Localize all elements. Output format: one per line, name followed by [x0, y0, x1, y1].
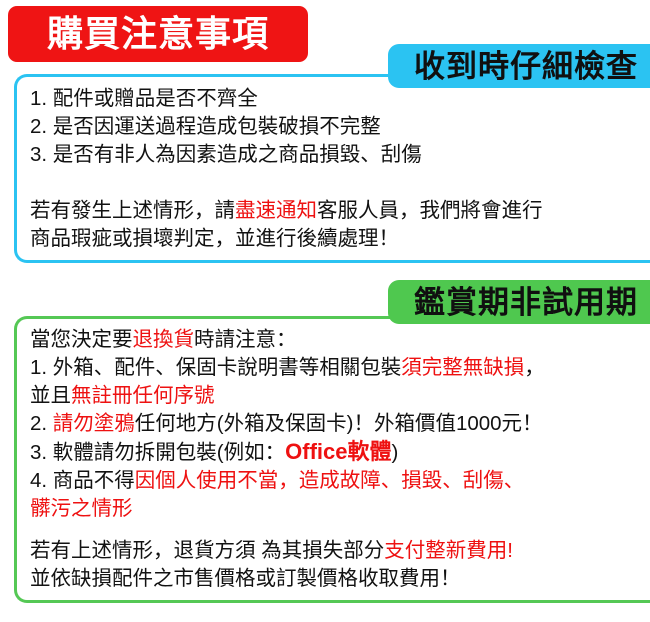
badge-inspect-on-receipt: 收到時仔細檢查: [388, 44, 650, 88]
item4-highlight-misuse: 因個人使用不當，造成故障、損毀、刮傷、: [135, 469, 525, 492]
item1-part-2: ，: [524, 356, 545, 379]
return-policy-note: 若有上述情形，退貨方須 為其損失部分支付整新費用! 並依缺損配件之市售價格或訂製…: [30, 537, 645, 593]
list-item-1-line-1: 1. 外箱、配件、保固卡說明書等相關包裝須完整無缺損，: [30, 354, 645, 382]
list-item: 3. 是否有非人為因素造成之商品損毀、刮傷: [30, 141, 630, 169]
intro-part-1: 當您決定要: [30, 328, 133, 351]
intro-part-2: 時請注意：: [194, 328, 297, 351]
list-item-2: 2. 請勿塗鴉任何地方(外箱及保固卡)！外箱價值1000元！: [30, 410, 645, 438]
list-item: 2. 是否因運送過程造成包裝破損不完整: [30, 113, 630, 141]
list-item-1-line-2: 並且無註冊任何序號: [30, 382, 645, 410]
badge-purchase-notice: 購買注意事項: [8, 6, 308, 62]
item3-highlight-office-software: Office軟體: [285, 439, 391, 464]
item1-line2-prefix: 並且: [30, 384, 71, 407]
list-item-3: 3. 軟體請勿拆開包裝(例如：Office軟體): [30, 438, 645, 467]
list-item-4-line-2: 髒污之情形: [30, 495, 645, 523]
inspect-note-line-1: 若有發生上述情形，請盡速通知客服人員，我們將會進行: [30, 197, 640, 225]
note-text-part-2: 客服人員，我們將會進行: [317, 199, 543, 222]
badge-cooling-off-period: 鑑賞期非試用期: [388, 280, 650, 324]
item4-part-1: 4. 商品不得: [30, 469, 135, 492]
note-text-part-1: 若有發生上述情形，請: [30, 199, 235, 222]
inspect-checklist: 1. 配件或贈品是否不齊全 2. 是否因運送過程造成包裝破損不完整 3. 是否有…: [30, 85, 630, 169]
return-note-line-2: 並依缺損配件之市售價格或訂製價格收取費用！: [30, 565, 645, 593]
return-intro: 當您決定要退換貨時請注意：: [30, 326, 645, 354]
item1-highlight-no-registration: 無註冊任何序號: [71, 384, 215, 407]
inspect-note: 若有發生上述情形，請盡速通知客服人員，我們將會進行 商品瑕疵或損壞判定，並進行後…: [30, 197, 640, 253]
inspect-note-line-2: 商品瑕疵或損壞判定，並進行後續處理！: [30, 225, 640, 253]
list-item-4-line-1: 4. 商品不得因個人使用不當，造成故障、損毀、刮傷、: [30, 467, 645, 495]
return-policy-list: 當您決定要退換貨時請注意： 1. 外箱、配件、保固卡說明書等相關包裝須完整無缺損…: [30, 326, 645, 523]
note-highlight-notify: 盡速通知: [235, 199, 317, 222]
item1-part-1: 1. 外箱、配件、保固卡說明書等相關包裝: [30, 356, 401, 379]
item3-part-2: ): [391, 441, 398, 464]
item2-part-2: 任何地方(外箱及保固卡)！外箱價值1000元！: [135, 412, 543, 435]
section-purchase-notice: 購買注意事項 收到時仔細檢查 1. 配件或贈品是否不齊全 2. 是否因運送過程造…: [0, 0, 650, 268]
return-note-part-1: 若有上述情形，退貨方須 為其損失部分: [30, 539, 384, 562]
item3-part-1: 3. 軟體請勿拆開包裝(例如：: [30, 441, 285, 464]
list-item: 1. 配件或贈品是否不齊全: [30, 85, 630, 113]
return-note-highlight-fee: 支付整新費用!: [384, 539, 513, 562]
return-note-line-1: 若有上述情形，退貨方須 為其損失部分支付整新費用!: [30, 537, 645, 565]
item2-prefix: 2.: [30, 412, 53, 435]
item1-highlight-intact: 須完整無缺損: [401, 356, 524, 379]
intro-highlight-return-exchange: 退換貨: [133, 328, 195, 351]
item2-highlight-no-graffiti: 請勿塗鴉: [53, 412, 135, 435]
